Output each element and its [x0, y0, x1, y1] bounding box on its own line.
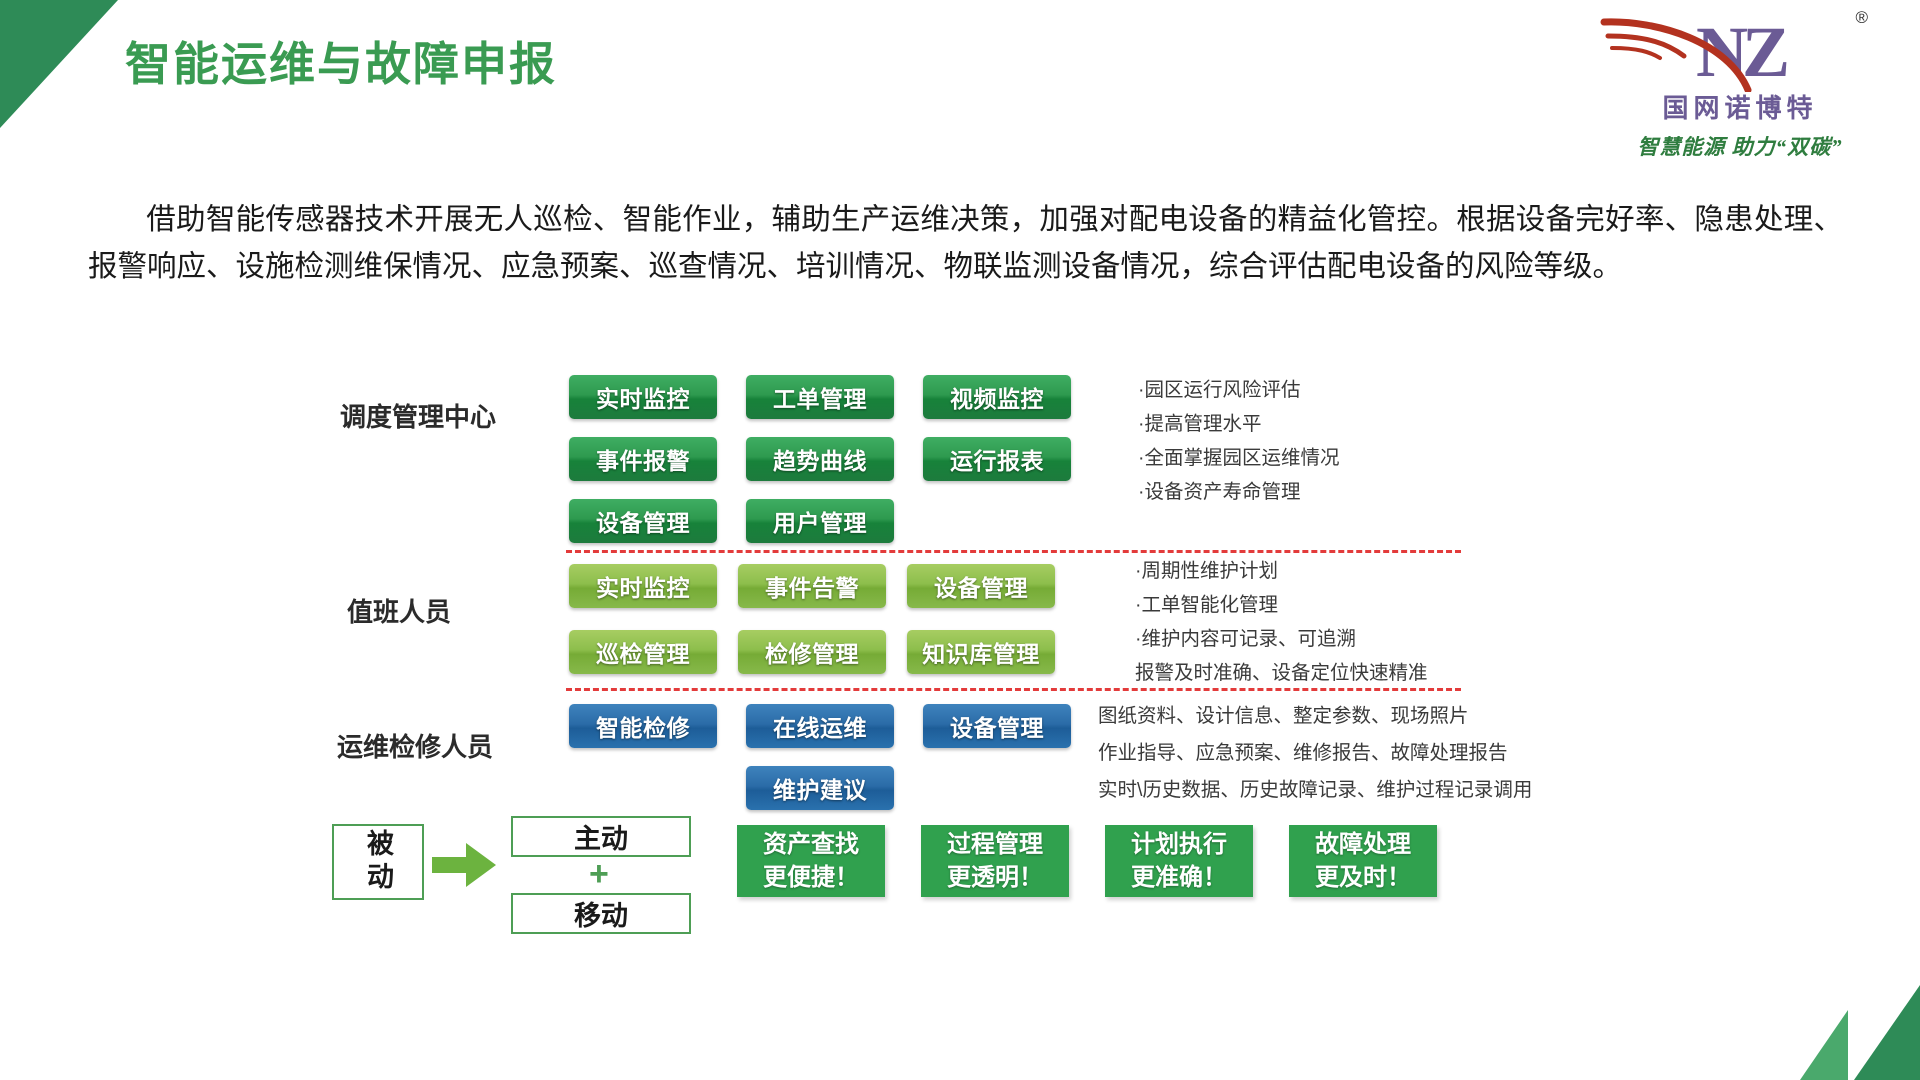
bullet-item: ·周期性维护计划	[1135, 555, 1428, 587]
button-realtime-monitor-duty[interactable]: 实时监控	[569, 564, 717, 608]
benefit-card-process-management: 过程管理 更透明！	[921, 825, 1069, 897]
page-title: 智能运维与故障申报	[125, 28, 557, 94]
button-device-management-duty[interactable]: 设备管理	[907, 564, 1055, 608]
flow-plus-sign: +	[589, 857, 609, 891]
divider-duty-maintenance	[566, 688, 1461, 691]
benefit-card-line1: 过程管理	[947, 828, 1043, 861]
benefit-card-line2: 更便捷！	[763, 861, 859, 894]
benefit-card-plan-execution: 计划执行 更准确！	[1105, 825, 1253, 897]
intro-paragraph: 借助智能传感器技术开展无人巡检、智能作业，辅助生产运维决策，加强对配电设备的精益…	[88, 196, 1843, 290]
registered-trademark-icon: ®	[1855, 8, 1868, 28]
bullet-item: ·提高管理水平	[1138, 408, 1340, 440]
bullet-item: ·园区运行风险评估	[1138, 374, 1340, 406]
row-label-maintenance-staff: 运维检修人员	[337, 727, 493, 764]
row-label-dispatch-center: 调度管理中心	[340, 397, 496, 434]
button-event-alarm[interactable]: 事件报警	[569, 437, 717, 481]
button-video-monitor[interactable]: 视频监控	[923, 375, 1071, 419]
bullet-item: ·工单智能化管理	[1135, 589, 1428, 621]
corner-decoration-top-left	[0, 0, 118, 128]
benefit-card-line2: 更透明！	[947, 861, 1043, 894]
button-realtime-monitor-dispatch[interactable]: 实时监控	[569, 375, 717, 419]
flow-passive-char-1: 被动	[362, 829, 394, 895]
bullet-item: 报警及时准确、设备定位快速精准	[1135, 657, 1428, 689]
text-list-maintenance-staff: 图纸资料、设计信息、整定参数、现场照片 作业指导、应急预案、维修报告、故障处理报…	[1098, 698, 1532, 809]
text-line: 实时\历史数据、历史故障记录、维护过程记录调用	[1098, 772, 1532, 809]
benefit-card-line1: 计划执行	[1131, 828, 1227, 861]
bullet-item: ·设备资产寿命管理	[1138, 476, 1340, 508]
button-smart-maintenance[interactable]: 智能检修	[569, 704, 717, 748]
bullet-item: ·维护内容可记录、可追溯	[1135, 623, 1428, 655]
button-maintenance-management[interactable]: 检修管理	[738, 630, 886, 674]
bullet-list-duty-staff: ·周期性维护计划 ·工单智能化管理 ·维护内容可记录、可追溯 报警及时准确、设备…	[1135, 555, 1428, 691]
button-online-ops[interactable]: 在线运维	[746, 704, 894, 748]
button-trend-curve[interactable]: 趋势曲线	[746, 437, 894, 481]
button-event-warning[interactable]: 事件告警	[738, 564, 886, 608]
button-knowledge-base[interactable]: 知识库管理	[907, 630, 1055, 674]
button-inspection-management[interactable]: 巡检管理	[569, 630, 717, 674]
bullet-item: ·全面掌握园区运维情况	[1138, 442, 1340, 474]
button-work-order-management[interactable]: 工单管理	[746, 375, 894, 419]
button-maintenance-advice[interactable]: 维护建议	[746, 766, 894, 810]
benefit-card-line1: 故障处理	[1315, 828, 1411, 861]
arrow-right-icon	[432, 837, 498, 893]
button-device-management-dispatch[interactable]: 设备管理	[569, 499, 717, 543]
logo-monogram-block: NZ ®	[1590, 6, 1890, 98]
button-operation-report[interactable]: 运行报表	[923, 437, 1071, 481]
flow-box-mobile: 移动	[511, 893, 691, 934]
benefit-card-line2: 更准确！	[1131, 861, 1227, 894]
benefit-card-asset-search: 资产查找 更便捷！	[737, 825, 885, 897]
divider-dispatch-duty	[566, 550, 1461, 553]
bullet-list-dispatch-center: ·园区运行风险评估 ·提高管理水平 ·全面掌握园区运维情况 ·设备资产寿命管理	[1138, 374, 1340, 510]
button-device-management-maintenance[interactable]: 设备管理	[923, 704, 1071, 748]
logo-tagline: 智慧能源 助力“双碳”	[1590, 131, 1890, 161]
button-user-management[interactable]: 用户管理	[746, 499, 894, 543]
text-line: 作业指导、应急预案、维修报告、故障处理报告	[1098, 735, 1532, 772]
intro-text: 借助智能传感器技术开展无人巡检、智能作业，辅助生产运维决策，加强对配电设备的精益…	[88, 203, 1843, 283]
flow-box-active: 主动	[511, 816, 691, 857]
company-logo: NZ ® 国网诺博特 智慧能源 助力“双碳”	[1590, 6, 1890, 146]
architecture-diagram: 调度管理中心 实时监控 工单管理 视频监控 事件报警 趋势曲线 运行报表 设备管…	[0, 352, 1920, 952]
text-line: 图纸资料、设计信息、整定参数、现场照片	[1098, 698, 1532, 735]
flow-box-passive: 被动	[332, 824, 424, 900]
row-label-duty-staff: 值班人员	[347, 592, 451, 629]
corner-decoration-bottom-right	[1770, 960, 1920, 1080]
logo-monogram-text: NZ	[1590, 6, 1890, 98]
benefit-card-fault-handling: 故障处理 更及时！	[1289, 825, 1437, 897]
benefit-card-line1: 资产查找	[763, 828, 859, 861]
benefit-card-line2: 更及时！	[1315, 861, 1411, 894]
